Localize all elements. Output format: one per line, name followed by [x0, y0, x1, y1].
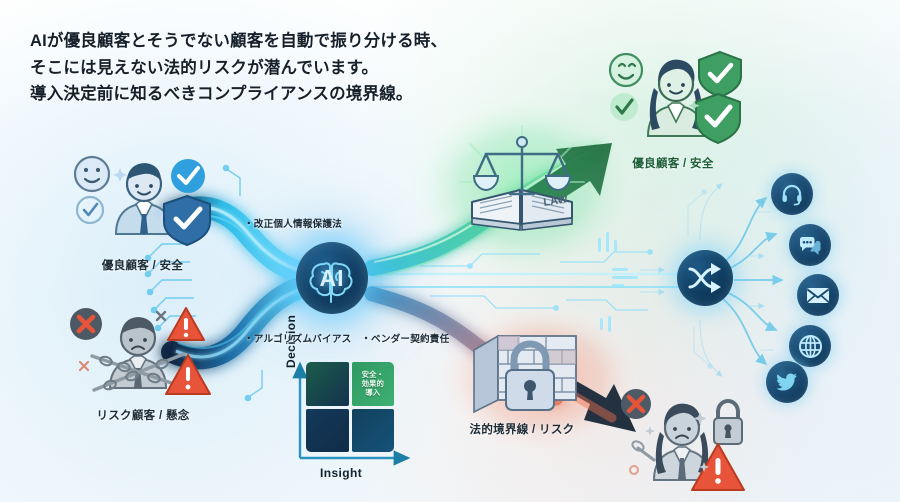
- globe-icon: [798, 334, 823, 359]
- headset-icon: [780, 182, 804, 206]
- decision-insight-matrix: 安全・ 効果的 導入 Decision Insight: [258, 358, 428, 486]
- infographic-canvas: AIが優良顧客とそうでない顧客を自動で振り分ける時、 そこには見えない法的リスク…: [0, 0, 900, 502]
- law-book-group: LAW: [452, 124, 592, 240]
- matrix-quadrant-top-left: [306, 362, 349, 406]
- headline-line-1: AIが優良顧客とそうでない顧客を自動で振り分ける時、: [30, 28, 590, 55]
- output-risk-customer-group: [614, 382, 764, 499]
- twitter-bird-icon: [775, 370, 799, 394]
- channel-chat[interactable]: [789, 224, 831, 266]
- matrix-quadrant-bottom-right: [352, 409, 395, 453]
- matrix-quadrant-top-right[interactable]: 安全・ 効果的 導入: [352, 362, 395, 406]
- annotation-privacy-law: ・改正個人情報保護法: [244, 216, 342, 230]
- brick-wall-with-padlock-icon: [468, 322, 588, 418]
- envelope-icon: [805, 282, 831, 308]
- channel-email[interactable]: [797, 274, 839, 316]
- channel-twitter[interactable]: [766, 361, 808, 403]
- matrix-quadrants: 安全・ 効果的 導入: [306, 362, 394, 452]
- worried-female-customer-with-lock-and-warning-icon: [614, 382, 764, 494]
- page-title: AIが優良顧客とそうでない顧客を自動で振り分ける時、 そこには見えない法的リスク…: [30, 28, 590, 108]
- matrix-highlight-label: 安全・ 効果的 導入: [362, 370, 384, 398]
- firewall-label: 法的境界線 / リスク: [456, 421, 588, 437]
- input-good-customer-label: 優良顧客 / 安全: [60, 257, 225, 273]
- ai-core-node[interactable]: AI: [296, 242, 368, 314]
- output-good-customer-label: 優良顧客 / 安全: [598, 155, 748, 171]
- input-risk-customer-label: リスク顧客 / 懸念: [58, 407, 228, 423]
- router-node[interactable]: [677, 250, 733, 306]
- channel-web[interactable]: [789, 325, 831, 367]
- matrix-x-axis-label: Insight: [320, 466, 362, 480]
- headline-line-2: そこには見えない法的リスクが潜んでいます。: [30, 55, 590, 82]
- shuffle-routing-icon: [677, 250, 733, 306]
- input-risk-customer-group: リスク顧客 / 懸念: [58, 300, 228, 423]
- input-good-customer-group: 優良顧客 / 安全: [60, 148, 225, 273]
- output-good-customer-group: 優良顧客 / 安全: [598, 44, 748, 171]
- smiling-male-customer-with-shield-check-icon: [60, 148, 225, 248]
- headline-line-3: 導入決定前に知るべきコンプライアンスの境界線。: [30, 81, 590, 108]
- scales-of-justice-on-law-book-icon: LAW: [452, 124, 592, 240]
- smiling-female-customer-with-green-shields-icon: [598, 44, 748, 148]
- chained-male-customer-with-warning-icon: [58, 300, 228, 400]
- annotation-bias-vendor: ・アルゴリズムバイアス ・ベンダー契約責任: [244, 331, 449, 345]
- firewall-group: 法的境界線 / リスク: [468, 322, 588, 422]
- ai-core-label: AI: [320, 265, 345, 292]
- matrix-quadrant-bottom-left: [306, 409, 349, 453]
- channel-headset[interactable]: [771, 173, 813, 215]
- chat-bubbles-icon: [798, 233, 822, 257]
